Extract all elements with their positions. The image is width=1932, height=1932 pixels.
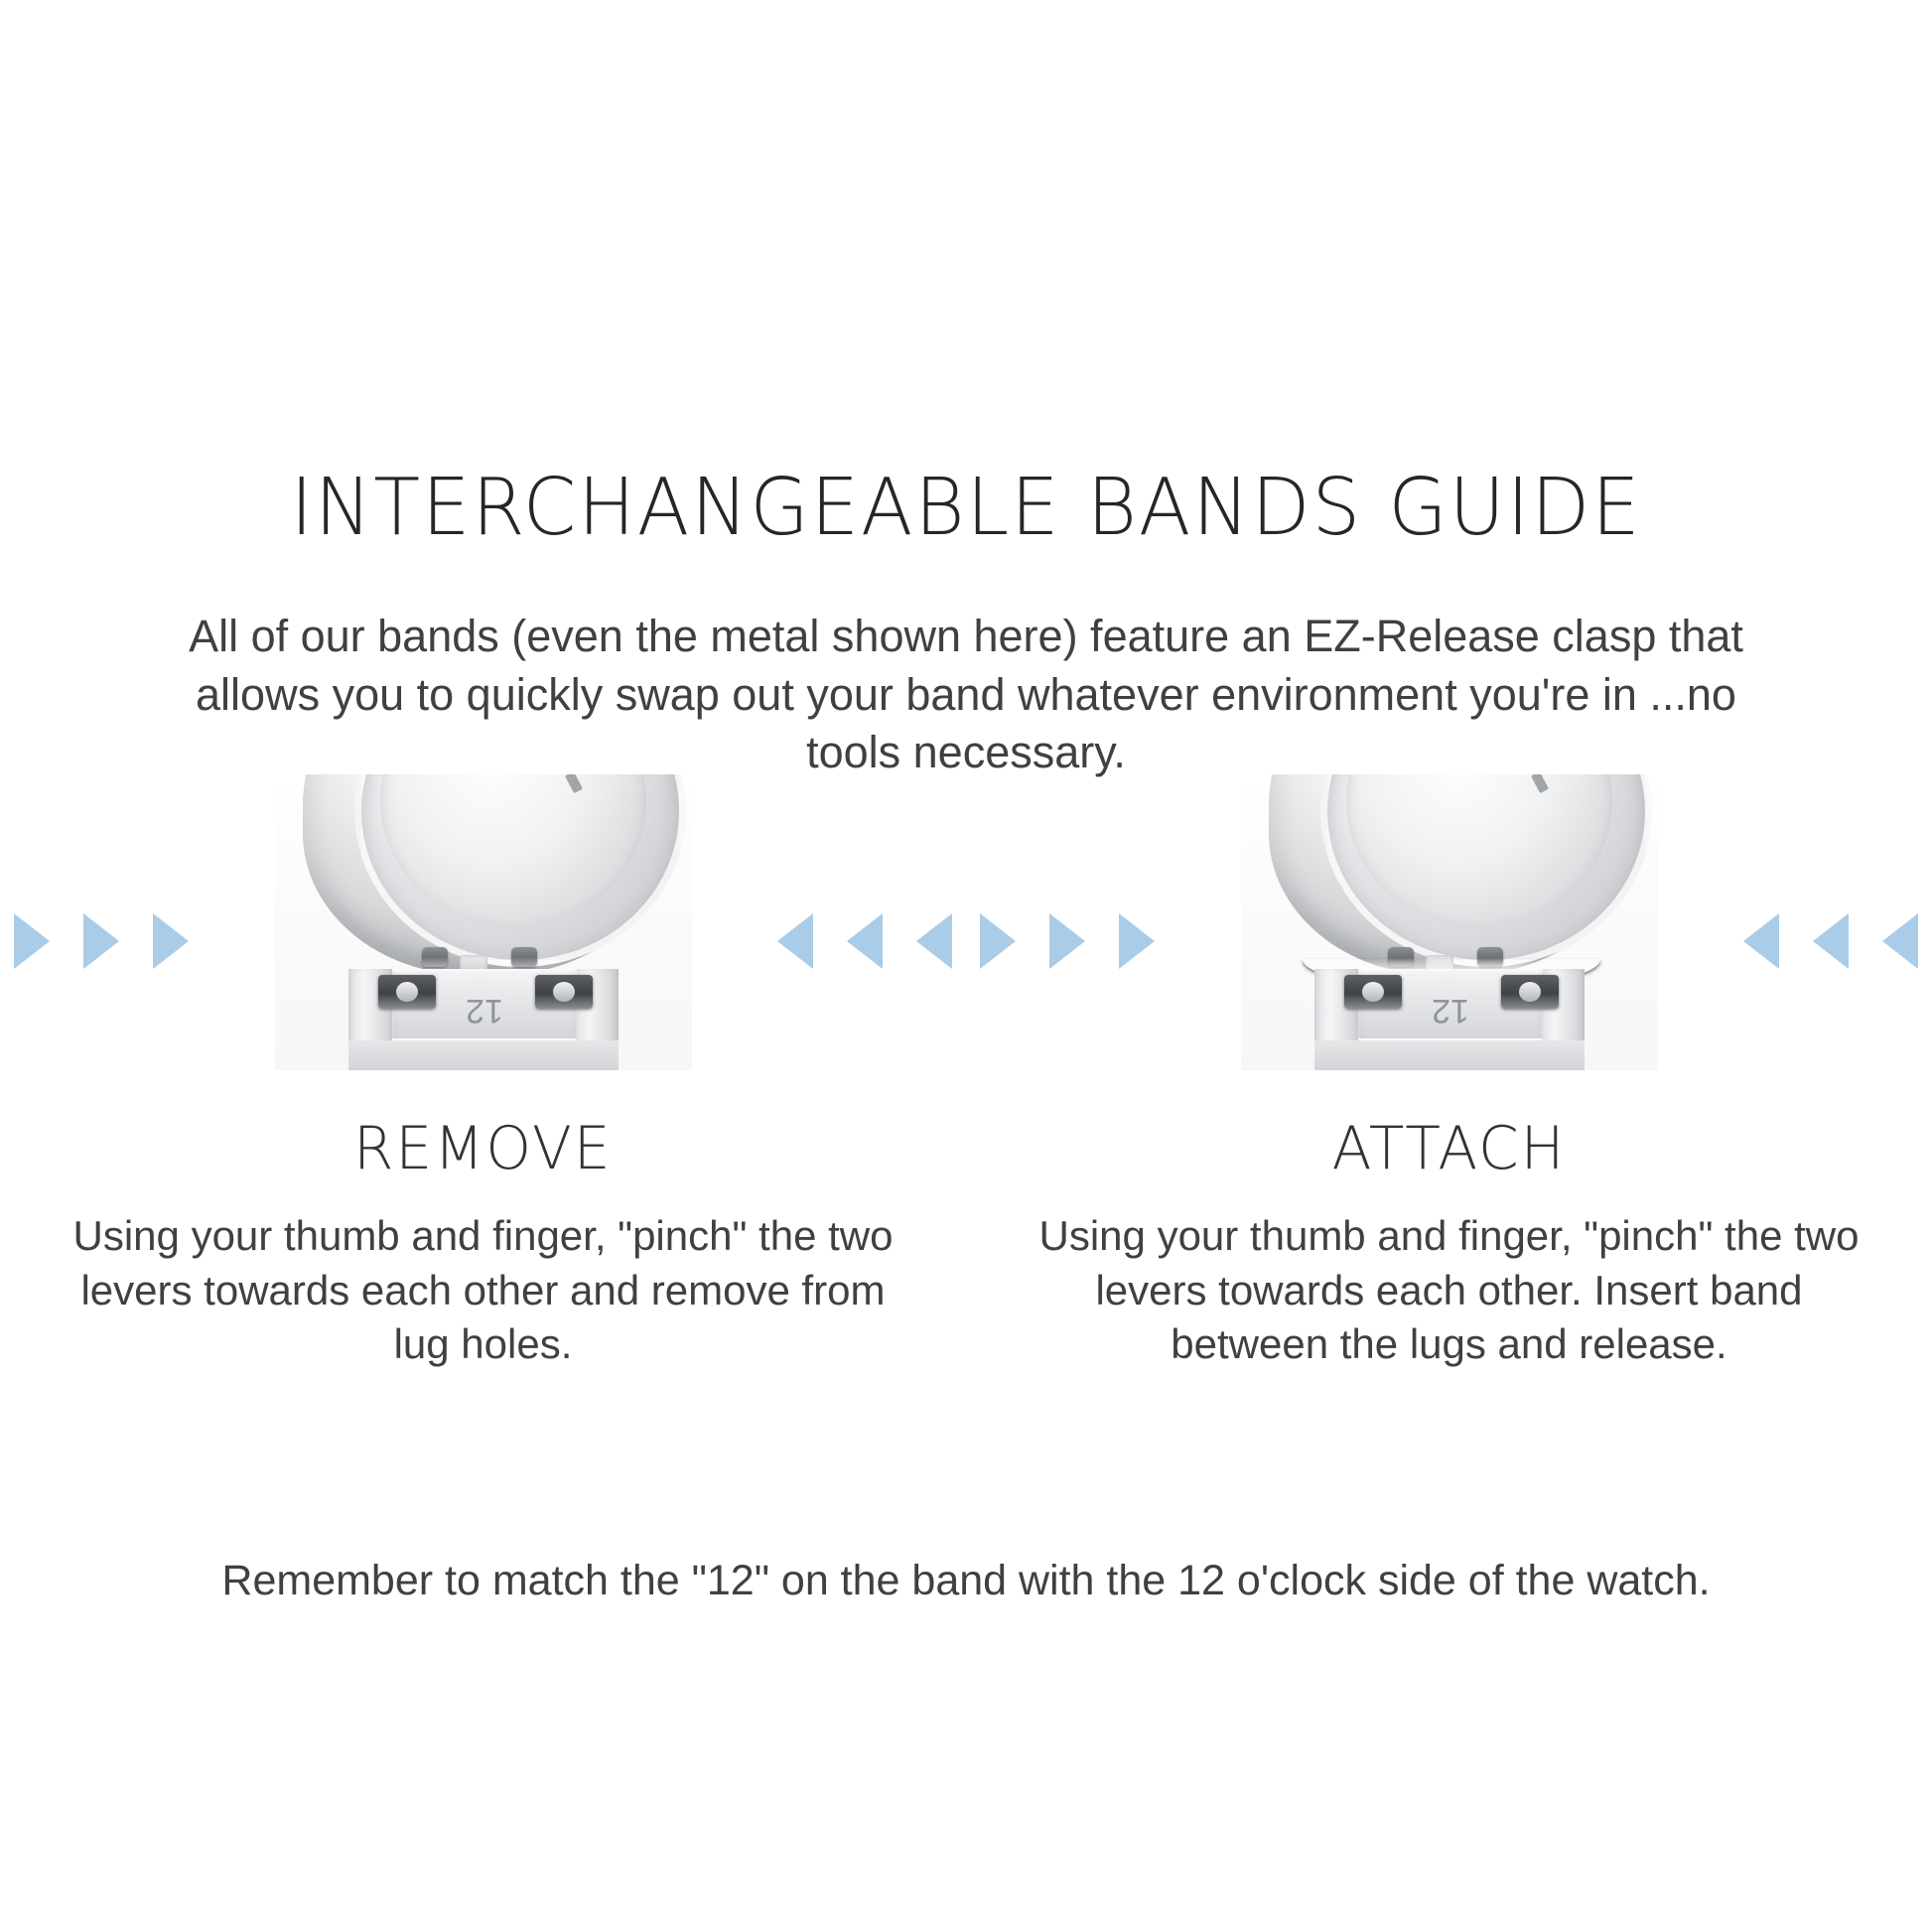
arrow-left-icon (916, 913, 952, 969)
watch-case-icon: CHRONOGRAPH ℜ (303, 774, 668, 975)
intro-paragraph: All of our bands (even the metal shown h… (159, 608, 1773, 782)
ez-release-lever-left (378, 975, 436, 1009)
steps-container: CHRONOGRAPH ℜ 12 (0, 774, 1932, 1372)
page-title: INTERCHANGEABLE BANDS GUIDE (29, 469, 1903, 547)
photo-background: CHRONOGRAPH ℜ 12 (275, 774, 692, 1070)
arrow-right-icon (83, 913, 119, 969)
attach-figure: CHRONOGRAPH ℜ 12 (966, 774, 1932, 1072)
arrow-right-icon (1049, 913, 1085, 969)
step-heading-remove: REMOVE (353, 1114, 612, 1183)
arrow-right-icon (153, 913, 189, 969)
step-caption-remove: Using your thumb and finger, "pinch" the… (57, 1209, 910, 1372)
step-heading-attach: ATTACH (1332, 1114, 1567, 1183)
step-panel-remove: CHRONOGRAPH ℜ 12 (0, 774, 966, 1372)
arrow-left-icon (1743, 913, 1779, 969)
step-caption-attach: Using your thumb and finger, "pinch" the… (1023, 1209, 1876, 1372)
footer-note: Remember to match the "12" on the band w… (0, 1554, 1932, 1609)
ez-release-lever-right (535, 975, 593, 1009)
arrow-right-icon (1119, 913, 1155, 969)
arrow-left-icon (1813, 913, 1849, 969)
photo-background: CHRONOGRAPH ℜ 12 (1241, 774, 1658, 1070)
watch-photo-attach: CHRONOGRAPH ℜ 12 (1241, 774, 1658, 1070)
arrow-right-icon (14, 913, 50, 969)
arrow-left-icon (777, 913, 813, 969)
lug-screw-icon (511, 947, 537, 967)
arrow-left-icon (1882, 913, 1918, 969)
bracelet-links (1314, 1040, 1585, 1070)
arrow-right-icon (980, 913, 1016, 969)
step-panel-attach: CHRONOGRAPH ℜ 12 (966, 774, 1932, 1372)
infographic-page: INTERCHANGEABLE BANDS GUIDE All of our b… (0, 0, 1932, 1932)
arrow-left-icon (847, 913, 883, 969)
lug-screw-icon (422, 947, 448, 967)
bracelet-links (348, 1040, 619, 1070)
ez-release-lever-right (1501, 975, 1559, 1009)
watch-case-icon: CHRONOGRAPH ℜ (1269, 774, 1634, 975)
watch-photo-remove: CHRONOGRAPH ℜ 12 (275, 774, 692, 1070)
ez-release-lever-left (1344, 975, 1402, 1009)
remove-figure: CHRONOGRAPH ℜ 12 (0, 774, 966, 1072)
